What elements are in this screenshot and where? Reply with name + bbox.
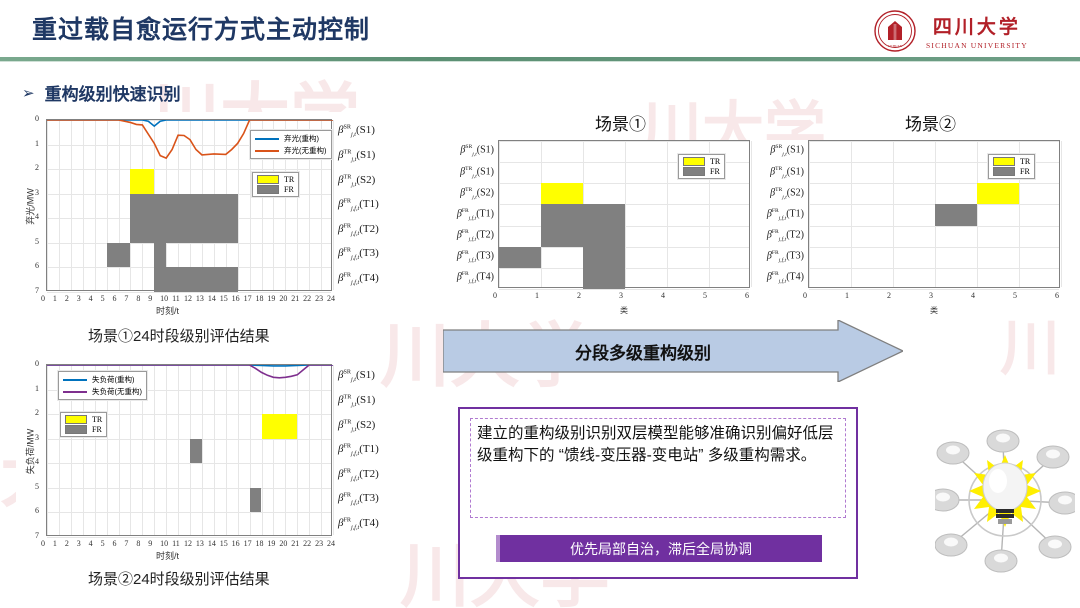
x-tick-label: 5 (101, 294, 105, 303)
x-tick-label: 1 (845, 291, 849, 300)
x-tick-label: 24 (327, 539, 335, 548)
legend-item-fr: FR (683, 167, 720, 176)
x-tick-label: 3 (77, 294, 81, 303)
legend-swatch-fr (993, 167, 1015, 176)
legend-item-line-0: 弃光(重构) (255, 133, 327, 144)
figure-scene1-class: 类 0123456βSRj,t(S1)βTRj,t(S1)βTRj,t(S2)β… (448, 140, 760, 315)
legend-swatch-tr (65, 415, 87, 424)
process-arrow: 分段多级重构级别 (443, 320, 903, 382)
y-tick-label: 7 (35, 531, 39, 540)
beta-label-S2: βTRj,t(S2) (338, 419, 375, 433)
legend-item-line-0: 失负荷(重构) (63, 374, 142, 385)
x-tick-label: 2 (577, 291, 581, 300)
y-tick-label: 4 (35, 212, 39, 221)
beta-label-T3: βFRj,f,t(T3) (338, 492, 379, 506)
legend-label-fr: FR (284, 185, 294, 194)
legend-label-tr: TR (710, 157, 720, 166)
chart-scene1-24h-xlabel: 时刻/t (156, 304, 179, 317)
block-tr (541, 183, 583, 204)
x-tick-label: 11 (172, 294, 180, 303)
beta-label-T3: βFRj,f,t(T3) (448, 250, 494, 263)
legend-item-fr: FR (257, 185, 294, 194)
lightbulb-network-graphic (935, 425, 1075, 575)
beta-label-T1: βFRj,f,t(T1) (338, 198, 379, 212)
legend-swatch-tr (683, 157, 705, 166)
series-弃光(重构) (47, 120, 333, 126)
x-tick-label: 1 (53, 539, 57, 548)
y-tick-label: 3 (35, 433, 39, 442)
legend-item-tr: TR (993, 157, 1030, 166)
gridline-vertical (333, 120, 334, 290)
legend-tr-fr: TRFR (678, 154, 725, 179)
x-tick-label: 12 (184, 294, 192, 303)
logo-wordmark: 四川大学 SICHUAN UNIVERSITY (926, 12, 1028, 50)
conclusion-text: 建立的重构级别识别双层模型能够准确识别偏好低层级重构下的 “馈线-变压器-变电站… (477, 423, 839, 468)
y-tick-label: 4 (35, 457, 39, 466)
x-tick-label: 20 (279, 294, 287, 303)
legend-item-tr: TR (257, 175, 294, 184)
chart-scene2-24h-xlabel: 时刻/t (156, 549, 179, 562)
slide-root: 川大学 川大学 川大学 川大学 大学 川 重过载自愈运行方式主动控制 SICHU… (0, 0, 1080, 608)
x-tick-label: 6 (745, 291, 749, 300)
svg-text:SICHUAN: SICHUAN (888, 44, 903, 48)
y-tick-label: 6 (35, 506, 39, 515)
logo-name-cn: 四川大学 (933, 12, 1021, 39)
x-tick-label: 14 (208, 294, 216, 303)
x-tick-label: 0 (803, 291, 807, 300)
legend-label-tr: TR (284, 175, 294, 184)
x-tick-label: 15 (220, 294, 228, 303)
legend-tr-fr: TRFR (252, 172, 299, 197)
y-tick-label: 7 (35, 286, 39, 295)
gridline-horizontal (809, 204, 1059, 205)
x-tick-label: 4 (89, 294, 93, 303)
x-tick-label: 6 (1055, 291, 1059, 300)
x-tick-label: 17 (244, 294, 252, 303)
x-tick-label: 14 (208, 539, 216, 548)
x-tick-label: 2 (887, 291, 891, 300)
block-fr (499, 247, 541, 268)
x-tick-label: 10 (160, 539, 168, 548)
gridline-horizontal (47, 292, 331, 293)
beta-label-S2: βTRj,t(S2) (338, 174, 375, 188)
gridline-vertical (751, 141, 752, 287)
legend-line-label: 失负荷(无重构) (92, 386, 142, 397)
x-tick-label: 18 (256, 539, 264, 548)
figure-scene2-24h: 失负荷/MW 时刻/t 0123456789101112131415161718… (16, 357, 364, 562)
x-tick-label: 5 (1013, 291, 1017, 300)
x-tick-label: 10 (160, 294, 168, 303)
beta-label-T2: βFRj,f,t(T2) (758, 229, 804, 242)
legend-line-swatch (255, 150, 279, 152)
legend-line-swatch (63, 379, 87, 381)
gridline-horizontal (809, 183, 1059, 184)
x-tick-label: 2 (65, 539, 69, 548)
legend-label-fr: FR (710, 167, 720, 176)
legend-line-swatch (255, 138, 279, 140)
beta-label-T4: βFRj,f,t(T4) (758, 271, 804, 284)
x-tick-label: 21 (291, 539, 299, 548)
chart-scene2-24h-caption: 场景②24时段级别评估结果 (88, 568, 270, 589)
gridline-horizontal (809, 289, 1059, 290)
beta-label-S1: βTRj,t(S1) (338, 149, 375, 163)
beta-label-T2: βFRj,f,t(T2) (448, 229, 494, 242)
legend-item-line-1: 失负荷(无重构) (63, 386, 142, 397)
legend-tr-fr: TRFR (988, 154, 1035, 179)
conclusion-dashed-frame: 建立的重构级别识别双层模型能够准确识别偏好低层级重构下的 “馈线-变压器-变电站… (470, 418, 846, 518)
y-tick-label: 5 (35, 237, 39, 246)
gridline-horizontal (809, 141, 1059, 142)
legend-tr-fr: TRFR (60, 412, 107, 437)
block-fr (935, 204, 977, 225)
x-tick-label: 0 (493, 291, 497, 300)
x-tick-label: 2 (65, 294, 69, 303)
legend-item-fr: FR (993, 167, 1030, 176)
x-tick-label: 9 (148, 294, 152, 303)
y-tick-label: 5 (35, 482, 39, 491)
x-tick-label: 16 (232, 294, 240, 303)
beta-label-T4: βFRj,f,t(T4) (338, 272, 379, 286)
gridline-vertical (1061, 141, 1062, 287)
x-tick-label: 3 (77, 539, 81, 548)
y-tick-label: 3 (35, 188, 39, 197)
beta-label-S1: βTRj,t(S1) (448, 166, 494, 179)
y-tick-label: 0 (35, 114, 39, 123)
process-arrow-label: 分段多级重构级别 (443, 320, 843, 382)
y-tick-label: 1 (35, 384, 39, 393)
legend-item-line-1: 弃光(无重构) (255, 145, 327, 156)
gridline-horizontal (47, 537, 331, 538)
beta-label-S1: βSRj,t(S1) (758, 144, 804, 157)
legend-swatch-fr (683, 167, 705, 176)
x-tick-label: 22 (303, 294, 311, 303)
x-tick-label: 3 (619, 291, 623, 300)
gridline-horizontal (809, 226, 1059, 227)
x-tick-label: 13 (196, 539, 204, 548)
beta-label-T1: βFRj,f,t(T1) (758, 208, 804, 221)
x-tick-label: 3 (929, 291, 933, 300)
x-tick-label: 21 (291, 294, 299, 303)
chart-scene2-24h-ylabel: 失负荷/MW (24, 420, 37, 484)
bullet-arrow-icon: ➢ (22, 84, 35, 102)
legend-line-swatch (63, 391, 87, 393)
x-tick-label: 24 (327, 294, 335, 303)
figure-scene1-24h: 弃光/MW 时刻/t 01234567891011121314151617181… (16, 112, 364, 317)
title-divider-thin (0, 61, 1080, 62)
y-tick-label: 1 (35, 139, 39, 148)
figure-scene2-class: 类 0123456βSRj,t(S1)βTRj,t(S1)βTRj,t(S2)β… (758, 140, 1070, 315)
logo-name-en: SICHUAN UNIVERSITY (926, 41, 1028, 50)
legend-label-fr: FR (1020, 167, 1030, 176)
x-tick-label: 6 (113, 539, 117, 548)
chart-scene2-class-title: 场景② (905, 110, 956, 135)
legend-swatch-fr (257, 185, 279, 194)
x-tick-label: 20 (279, 539, 287, 548)
x-tick-label: 12 (184, 539, 192, 548)
gridline-vertical (333, 365, 334, 535)
x-tick-label: 4 (661, 291, 665, 300)
section-bullet-label: 重构级别快速识别 (45, 80, 181, 105)
legend-swatch-fr (65, 425, 87, 434)
x-tick-label: 0 (41, 294, 45, 303)
x-tick-label: 22 (303, 539, 311, 548)
beta-label-T2: βFRj,f,t(T2) (338, 468, 379, 482)
beta-label-S2: βTRj,t(S2) (448, 187, 494, 200)
x-tick-label: 1 (53, 294, 57, 303)
gridline-horizontal (499, 183, 749, 184)
legend-lines: 失负荷(重构)失负荷(无重构) (58, 371, 147, 400)
x-tick-label: 18 (256, 294, 264, 303)
beta-label-S1: βSRj,t(S1) (338, 369, 375, 383)
x-tick-label: 0 (41, 539, 45, 548)
block-fr (583, 204, 625, 289)
beta-label-S1: βSRj,t(S1) (448, 144, 494, 157)
chart-scene2-class-xlabel: 类 (930, 305, 938, 316)
page-title: 重过载自愈运行方式主动控制 (32, 10, 370, 46)
university-logo: SICHUAN 四川大学 SICHUAN UNIVERSITY (874, 8, 1054, 54)
x-tick-label: 17 (244, 539, 252, 548)
chart-scene1-class-xlabel: 类 (620, 305, 628, 316)
legend-lines: 弃光(重构)弃光(无重构) (250, 130, 332, 159)
beta-label-T3: βFRj,f,t(T3) (338, 247, 379, 261)
x-tick-label: 7 (124, 539, 128, 548)
y-tick-label: 2 (35, 408, 39, 417)
legend-swatch-tr (993, 157, 1015, 166)
legend-label-fr: FR (92, 425, 102, 434)
beta-label-S1: βTRj,t(S1) (338, 394, 375, 408)
block-fr (541, 204, 583, 246)
chart-scene1-24h-caption: 场景①24时段级别评估结果 (88, 325, 270, 346)
beta-label-S1: βSRj,t(S1) (338, 124, 375, 138)
legend-label-tr: TR (92, 415, 102, 424)
beta-label-T2: βFRj,f,t(T2) (338, 223, 379, 237)
legend-label-tr: TR (1020, 157, 1030, 166)
x-tick-label: 5 (703, 291, 707, 300)
gridline-horizontal (499, 289, 749, 290)
legend-item-tr: TR (65, 415, 102, 424)
beta-label-S1: βTRj,t(S1) (758, 166, 804, 179)
legend-item-fr: FR (65, 425, 102, 434)
legend-line-label: 弃光(无重构) (284, 145, 327, 156)
sichuan-university-seal-icon: SICHUAN (874, 10, 916, 52)
beta-label-S2: βTRj,t(S2) (758, 187, 804, 200)
x-tick-label: 9 (148, 539, 152, 548)
beta-label-T1: βFRj,f,t(T1) (338, 443, 379, 457)
x-tick-label: 11 (172, 539, 180, 548)
x-tick-label: 8 (136, 539, 140, 548)
legend-swatch-tr (257, 175, 279, 184)
x-tick-label: 19 (267, 539, 275, 548)
x-tick-label: 1 (535, 291, 539, 300)
chart-scene1-class-title: 场景① (595, 110, 646, 135)
x-tick-label: 6 (113, 294, 117, 303)
x-tick-label: 13 (196, 294, 204, 303)
x-tick-label: 23 (315, 539, 323, 548)
beta-label-T1: βFRj,f,t(T1) (448, 208, 494, 221)
conclusion-banner: 优先局部自治，滞后全局协调 (500, 535, 822, 562)
gridline-horizontal (809, 247, 1059, 248)
legend-item-tr: TR (683, 157, 720, 166)
legend-line-label: 弃光(重构) (284, 133, 319, 144)
conclusion-box: 建立的重构级别识别双层模型能够准确识别偏好低层级重构下的 “馈线-变压器-变电站… (458, 407, 858, 579)
legend-line-label: 失负荷(重构) (92, 374, 135, 385)
x-tick-label: 19 (267, 294, 275, 303)
beta-label-T4: βFRj,f,t(T4) (338, 517, 379, 531)
beta-label-T4: βFRj,f,t(T4) (448, 271, 494, 284)
x-tick-label: 7 (124, 294, 128, 303)
x-tick-label: 8 (136, 294, 140, 303)
y-tick-label: 2 (35, 163, 39, 172)
chart-scene1-24h-ylabel: 弃光/MW (24, 177, 37, 237)
y-tick-label: 0 (35, 359, 39, 368)
x-tick-label: 15 (220, 539, 228, 548)
y-tick-label: 6 (35, 261, 39, 270)
gridline-horizontal (499, 141, 749, 142)
x-tick-label: 4 (89, 539, 93, 548)
beta-label-T3: βFRj,f,t(T3) (758, 250, 804, 263)
x-tick-label: 5 (101, 539, 105, 548)
x-tick-label: 16 (232, 539, 240, 548)
x-tick-label: 23 (315, 294, 323, 303)
section-bullet: ➢ 重构级别快速识别 (22, 80, 181, 105)
block-tr (977, 183, 1019, 204)
gridline-horizontal (809, 268, 1059, 269)
x-tick-label: 4 (971, 291, 975, 300)
